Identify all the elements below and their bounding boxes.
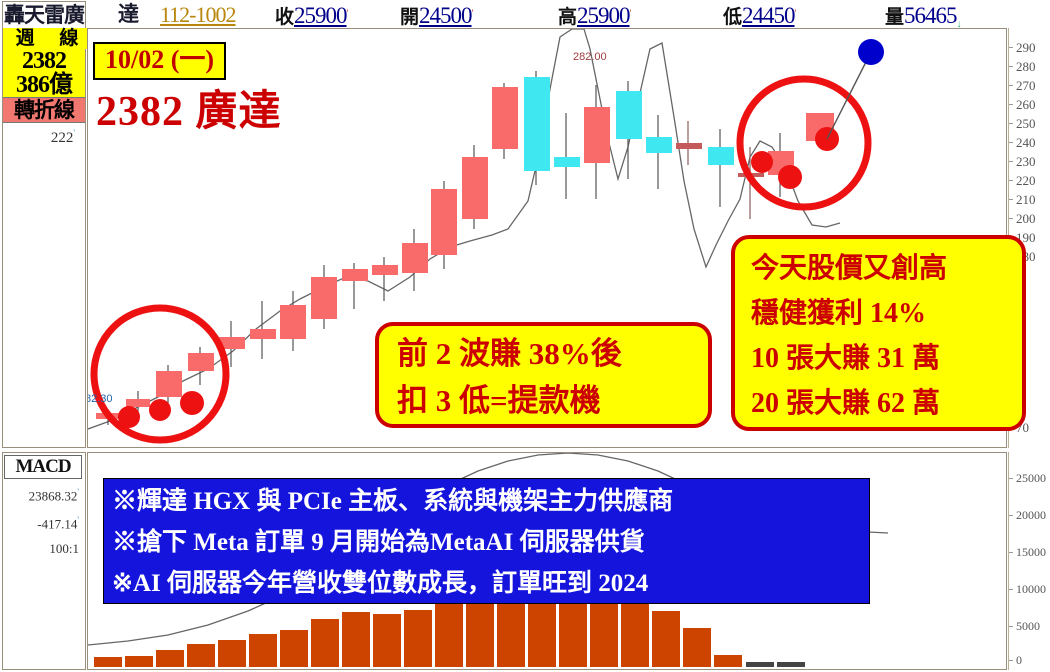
volume-axis: 25000 20000 15000 10000 5000 0 [1008, 452, 1050, 670]
macd-info-panel: MACD 23868.32' -417.14' 100:1 [2, 452, 86, 670]
market-cap-label: 386億 [3, 73, 85, 97]
header-volume-label: 量 [885, 7, 904, 28]
callout-right-line-2: 穩健獲利 14% [751, 291, 1022, 336]
price-tick-210: 210 [1016, 192, 1036, 208]
signal-dot-red [149, 399, 171, 421]
header-high-label: 高 [558, 7, 577, 28]
price-tick-280: 280 [1016, 59, 1036, 75]
up-tick-icon: ' [347, 9, 349, 20]
header-low-group: 低24450' [723, 2, 796, 29]
left-info-panel: 週 線 2382 386億 轉折線 222' [2, 28, 86, 448]
news-highlight-box: ※輝達 HGX 與 PCIe 主板、系統與機架主力供應商 ※搶下 Meta 訂單… [103, 478, 870, 604]
signal-dot-red [118, 406, 140, 428]
callout-mid-line-1: 前 2 波賺 38%後 [397, 330, 708, 377]
news-line-2: ※搶下 Meta 訂單 9 月開始為MetaAI 伺服器供貨 [112, 522, 869, 563]
callout-right-line-1: 今天股價又創高 [751, 246, 1022, 291]
volume-tick-10000: 10000 [1016, 582, 1046, 597]
price-tick-240: 240 [1016, 135, 1036, 151]
price-tick-260: 260 [1016, 97, 1036, 113]
volume-tick-25000: 25000 [1016, 471, 1046, 486]
news-line-3: ※AI 伺服器今年營收雙位數成長，訂單旺到 2024 [112, 563, 869, 604]
callout-right-line-4: 20 張大賺 62 萬 [751, 381, 1022, 426]
header-stock-name: 轟天雷廣 [2, 1, 86, 28]
header-low-value: 24450 [742, 3, 795, 28]
volume-tick-15000: 15000 [1016, 545, 1046, 560]
macd-ratio: 100:1 [3, 538, 85, 560]
quote-header: 轟天雷廣 達 112-1002 收25900' 開24500' 高25900' … [0, 0, 1050, 30]
stock-chart-screen: 轟天雷廣 達 112-1002 收25900' 開24500' 高25900' … [0, 0, 1050, 672]
price-tick-290: 290 [1016, 40, 1036, 56]
macd-value-top-row: 23868.32' [3, 481, 85, 507]
header-high-value: 25900 [577, 3, 630, 28]
macd-value-top: 23868.32 [29, 488, 78, 503]
volume-tick-5000: 5000 [1016, 619, 1040, 634]
page-title: 2382 廣達 [96, 88, 282, 136]
header-date-code: 112-1002 [160, 2, 236, 28]
callout-right-line-3: 10 張大賺 31 萬 [751, 336, 1022, 381]
up-tick-icon: ' [77, 515, 79, 525]
date-badge: 10/02 (一) [93, 42, 226, 80]
price-tick-200: 200 [1016, 211, 1036, 227]
signal-dot-blue [858, 39, 884, 65]
volume-tick-20000: 20000 [1016, 508, 1046, 523]
low-price-label: 82.30 [88, 393, 113, 405]
header-low-label: 低 [723, 7, 742, 28]
up-tick-icon: ' [630, 9, 632, 20]
price-tick-220: 220 [1016, 173, 1036, 189]
period-label: 週 線 [3, 28, 93, 49]
callout-gain-summary: 今天股價又創高 穩健獲利 14% 10 張大賺 31 萬 20 張大賺 62 萬 [731, 235, 1026, 431]
signal-dot-red [180, 391, 204, 415]
header-open-group: 開24500' [400, 2, 473, 29]
header-open-value: 24500 [419, 3, 472, 28]
header-stock-name-2: 達 [118, 1, 139, 27]
callout-mid-line-2: 扣 3 低=提款機 [397, 377, 708, 424]
macd-title: MACD [4, 455, 82, 479]
macd-value-mid-row: -417.14' [3, 509, 85, 535]
up-tick-icon: ' [77, 487, 79, 497]
signal-dot-red [778, 165, 802, 189]
price-tick-230: 230 [1016, 154, 1036, 170]
volume-tick-0: 0 [1016, 653, 1022, 668]
turning-line-value: 222 [51, 130, 74, 146]
header-open-label: 開 [400, 7, 419, 28]
header-close-label: 收 [275, 7, 294, 28]
header-volume-value: 56465 [904, 3, 957, 28]
price-tick-250: 250 [1016, 116, 1036, 132]
price-tick-270: 270 [1016, 78, 1036, 94]
callout-profit-note: 前 2 波賺 38%後 扣 3 低=提款機 [375, 322, 712, 428]
signal-dot-red [751, 151, 773, 173]
up-tick-icon: ' [795, 9, 797, 20]
turning-line-label: 轉折線 [3, 97, 85, 123]
stock-code-label: 2382 [3, 49, 85, 73]
header-close-value: 25900 [294, 3, 347, 28]
news-line-1: ※輝達 HGX 與 PCIe 主板、系統與機架主力供應商 [112, 481, 869, 522]
up-tick-icon: ' [472, 9, 474, 20]
peak-price-label: 282.00 [573, 51, 607, 63]
turning-line-value-row: 222' [3, 123, 85, 148]
header-volume-group: 量56465↓ [885, 2, 962, 30]
macd-value-mid: -417.14 [37, 517, 77, 532]
header-high-group: 高25900' [558, 2, 631, 29]
up-tick-icon: ' [73, 128, 75, 138]
header-close-group: 收25900' [275, 2, 348, 29]
